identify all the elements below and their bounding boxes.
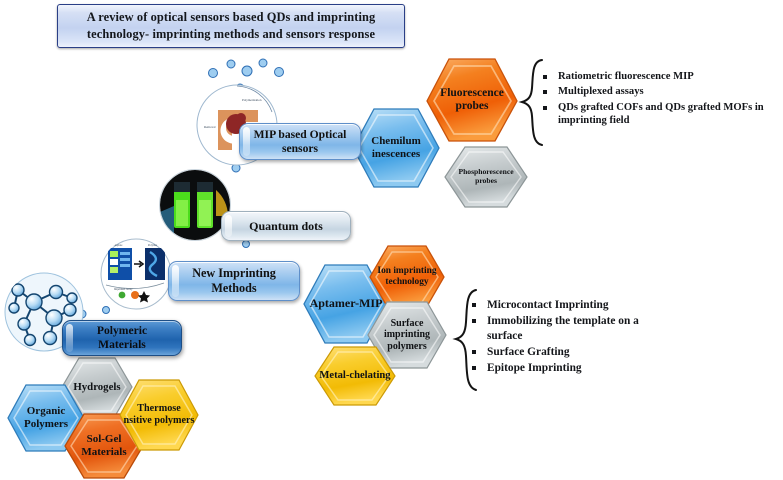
svg-text:Template: Template (112, 244, 123, 247)
hexagon-fluorescence-probes[interactable]: Fluorescence probes (426, 57, 518, 143)
box-quantum-dots[interactable]: Quantum dots (221, 211, 351, 241)
hexagon-label: Ion imprinting technology (369, 266, 445, 288)
svg-text:Removal: Removal (204, 125, 216, 129)
hexagon-label: Thermose nsitive polymers (119, 403, 199, 427)
hexagon-label: Metal-chelating (315, 370, 394, 382)
svg-text:Polymerization: Polymerization (242, 98, 262, 102)
bullet-item: Epitope Imprinting (470, 361, 670, 375)
bullet-list-fluorescence: Ratiometric fluorescence MIP Multiplexed… (541, 70, 779, 129)
hexagon-phosphorescence-probes[interactable]: Phosphorescence probes (444, 145, 528, 209)
bullet-list-surface-imprinting: Microcontact Imprinting Immobilizing the… (470, 298, 670, 378)
svg-text:Imprinted cavity: Imprinted cavity (114, 288, 133, 291)
hexagon-label: Hydrogels (69, 381, 124, 394)
hexagon-label: Fluorescence probes (426, 87, 518, 114)
hexagon-metal-chelating[interactable]: Metal-chelating (314, 345, 396, 407)
diagram-canvas: A review of optical sensors based QDs an… (0, 0, 783, 480)
title-line-1: A review of optical sensors based QDs an… (87, 10, 376, 24)
box-new-imprinting-methods[interactable]: New Imprinting Methods (168, 261, 300, 301)
box-mip-based-optical-sensors[interactable]: MIP based Optical sensors (239, 123, 361, 160)
bullet-item: Surface Grafting (470, 345, 670, 359)
title-line-2: technology- imprinting methods and senso… (87, 27, 375, 41)
bullet-item: Microcontact Imprinting (470, 298, 670, 312)
hexagon-label: Organic Polymers (7, 405, 85, 431)
hexagon-label: Phosphorescence probes (444, 168, 528, 186)
page-title: A review of optical sensors based QDs an… (57, 4, 405, 48)
box-polymeric-materials[interactable]: Polymeric Materials (62, 320, 182, 356)
hexagon-label: Chemilum inescences (352, 135, 440, 161)
bullet-item: QDs grafted COFs and QDs grafted MOFs in… (541, 101, 779, 128)
hexagon-label: Sol-Gel Materials (64, 433, 144, 459)
hexagon-label: Aptamer-MIP (306, 297, 387, 311)
bullet-item: Ratiometric fluorescence MIP (541, 70, 779, 83)
hexagon-label: Surface imprinting polymers (367, 318, 447, 353)
imprinting-scheme-illustration: TemplatePolymer Imprinted cavity (100, 238, 172, 310)
svg-text:Polymer: Polymer (148, 244, 158, 247)
bullet-item: Multiplexed assays (541, 85, 779, 98)
bullet-item: Immobilizing the template on a surface (470, 314, 670, 343)
